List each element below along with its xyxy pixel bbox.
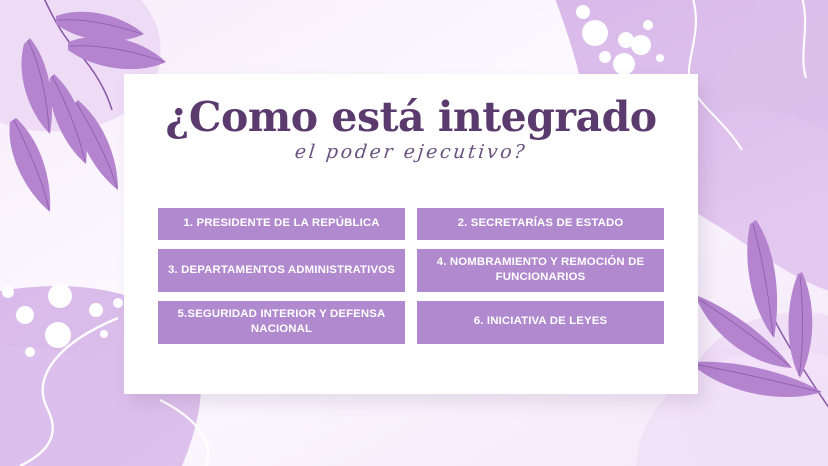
leaf-branch-bottom-right-icon xyxy=(690,206,828,436)
list-item-5[interactable]: 5.SEGURIDAD INTERIOR Y DEFENSA NACIONAL xyxy=(158,301,405,344)
page-title: ¿Como está integrado xyxy=(124,96,698,139)
page-subtitle: el poder ejecutivo? xyxy=(123,141,699,163)
content-card: ¿Como está integrado el poder ejecutivo?… xyxy=(124,74,698,394)
slide-canvas: ¿Como está integrado el poder ejecutivo?… xyxy=(0,0,828,466)
dots-bottom-left xyxy=(2,284,123,357)
list-item-1[interactable]: 1. PRESIDENTE DE LA REPÚBLICA xyxy=(158,208,405,240)
blob-right-edge xyxy=(700,0,828,170)
list-item-4[interactable]: 4. NOMBRAMIENTO Y REMOCIÓN DE FUNCIONARI… xyxy=(417,249,664,292)
list-item-6[interactable]: 6. INICIATIVA DE LEYES xyxy=(417,301,664,344)
blob-bottom-left-extra xyxy=(0,346,135,466)
list-item-3[interactable]: 3. DEPARTAMENTOS ADMINISTRATIVOS xyxy=(158,249,405,292)
dots-top-right xyxy=(576,5,664,75)
wave-lines-top-right xyxy=(689,0,806,150)
list-item-2[interactable]: 2. SECRETARÍAS DE ESTADO xyxy=(417,208,664,240)
title-block: ¿Como está integrado el poder ejecutivo? xyxy=(124,96,698,163)
items-grid: 1. PRESIDENTE DE LA REPÚBLICA 2. SECRETA… xyxy=(158,208,664,344)
